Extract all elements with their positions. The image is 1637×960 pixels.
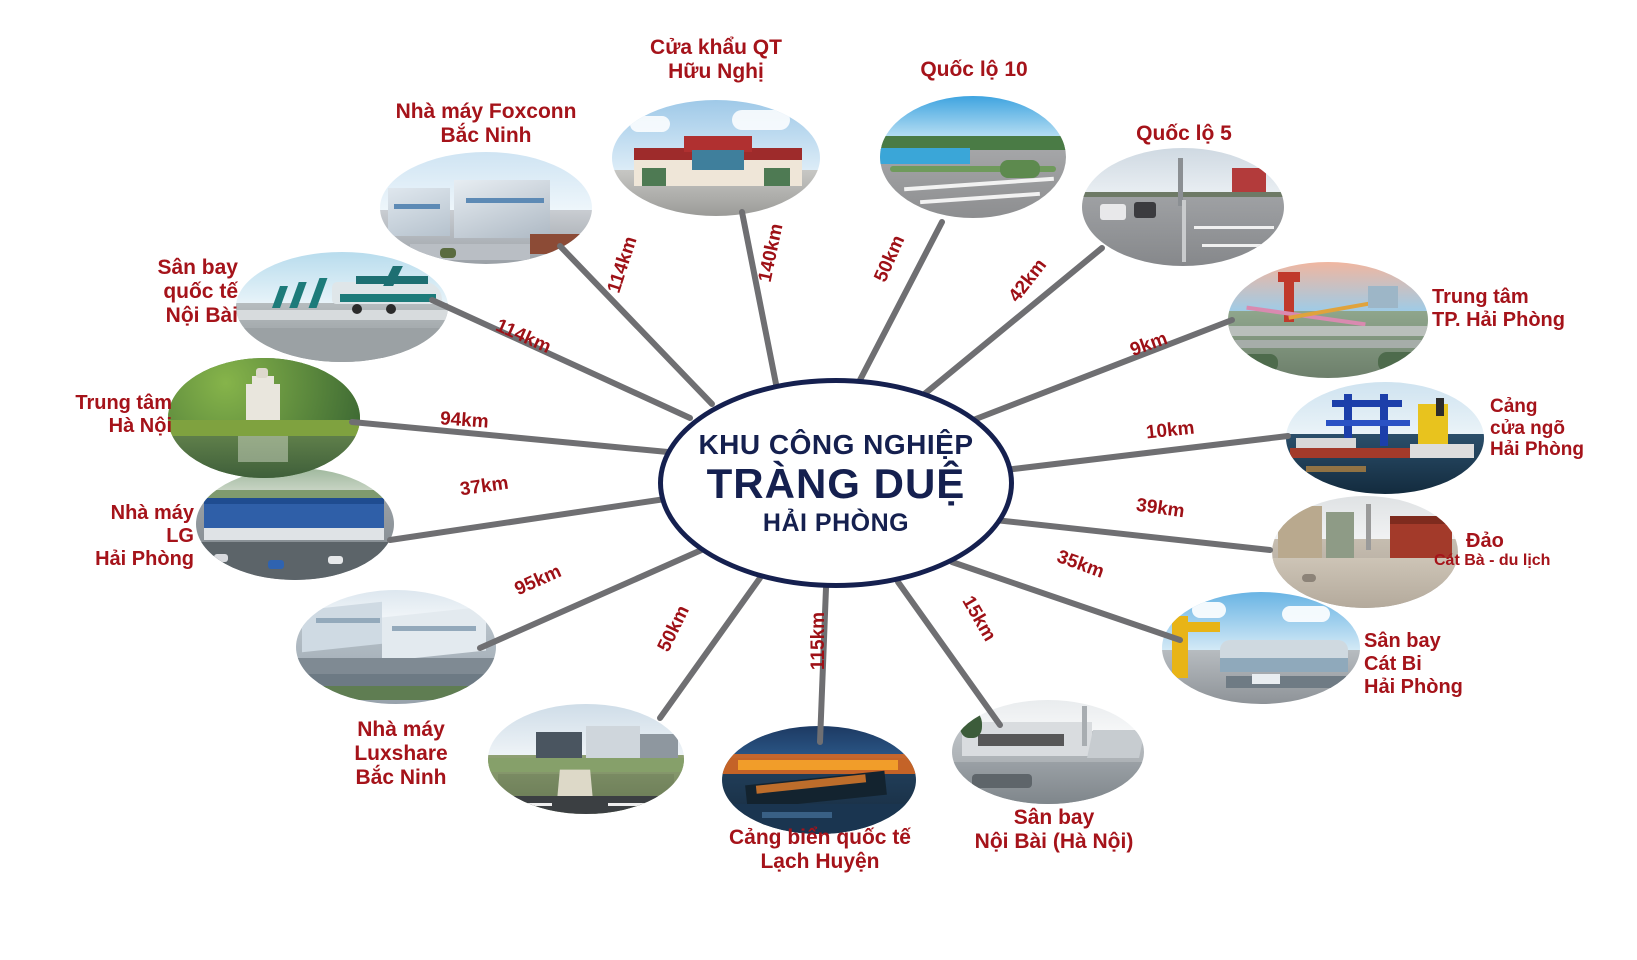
label-san-bay-cat-bi: Sân bay Cát Bi Hải Phòng xyxy=(1364,630,1544,698)
hub-line-2: TRÀNG DUỆ xyxy=(707,462,966,506)
label-lg-hai-phong: Nhà máy LG Hải Phòng xyxy=(44,502,194,570)
label-cang-cua-ngo: Cảng cửa ngõ Hải Phòng xyxy=(1490,396,1637,461)
label-cua-khau-huu-nghi: Cửa khẩu QT Hữu Nghị xyxy=(608,36,824,84)
spoke-trung-tam-ha-noi xyxy=(352,422,668,452)
distance-cang-lach-huyen: 115km xyxy=(808,612,830,670)
label-trung-tam-hai-phong: Trung tâm TP. Hải Phòng xyxy=(1432,286,1637,332)
label-foxconn-bac-ninh: Nhà máy Foxconn Bắc Ninh xyxy=(366,100,606,148)
label-dao-cat-ba-sub: Cát Bà - du lịch xyxy=(1434,552,1634,570)
spoke-lg-hai-phong xyxy=(390,498,672,540)
spoke-foxconn-bac-ninh xyxy=(560,246,712,404)
diagram-canvas: KHU CÔNG NGHIỆP TRÀNG DUỆ HẢI PHÒNG Nhà … xyxy=(0,0,1637,960)
spoke-trung-tam-hai-phong xyxy=(968,320,1232,422)
hub-center: KHU CÔNG NGHIỆP TRÀNG DUỆ HẢI PHÒNG xyxy=(658,378,1014,588)
label-quoc-lo-10: Quốc lộ 10 xyxy=(876,58,1072,82)
spoke-san-bay-noi-bai xyxy=(432,300,690,418)
spoke-quoc-lo-5 xyxy=(922,248,1102,396)
label-luxshare-bac-ninh: Nhà máy Luxshare Bắc Ninh xyxy=(306,718,496,790)
hub-line-1: KHU CÔNG NGHIỆP xyxy=(698,430,973,459)
label-cang-lach-huyen: Cảng biển quốc tế Lạch Huyện xyxy=(700,826,940,874)
spoke-san-bay-noi-bai-hn xyxy=(898,582,1000,725)
label-san-bay-noi-bai: Sân bay quốc tế Nội Bài xyxy=(62,256,238,328)
label-san-bay-noi-bai-hn: Sân bay Nội Bài (Hà Nội) xyxy=(948,806,1160,854)
label-quoc-lo-5: Quốc lộ 5 xyxy=(1080,122,1288,146)
label-trung-tam-ha-noi: Trung tâm Hà Nội xyxy=(10,392,172,438)
label-dao-cat-ba: Đảo xyxy=(1466,530,1636,553)
hub-line-3: HẢI PHÒNG xyxy=(763,510,909,536)
distance-trung-tam-ha-noi: 94km xyxy=(439,408,489,433)
spoke-dao-cat-ba xyxy=(995,520,1270,550)
